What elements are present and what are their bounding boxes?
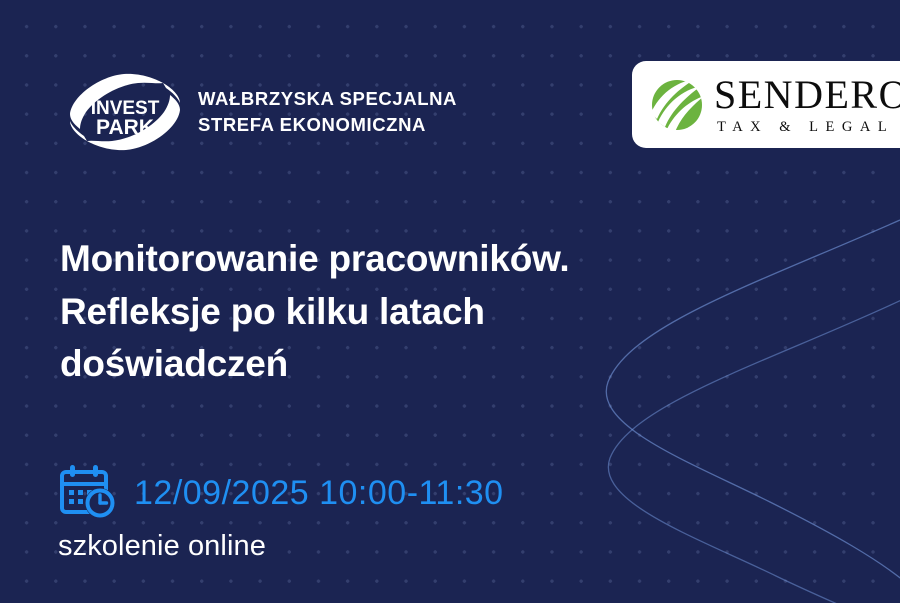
event-info: 12/09/2025 10:00-11:30 szkolenie online (58, 462, 678, 563)
banner-title-line-2: Refleksje po kilku latach (60, 286, 680, 339)
wsse-wordmark-line1: WAŁBRZYSKA SPECJALNA (198, 86, 457, 112)
sendero-logo-card: SENDERO TAX & LEGAL (632, 61, 900, 148)
invest-park-diamond-logo-icon: INVEST PARK (62, 70, 188, 154)
banner-header: INVEST PARK WAŁBRZYSKA SPECJALNA STREFA … (0, 0, 900, 160)
banner-title-line-3: doświadczeń (60, 338, 680, 391)
invest-park-mark-line2: PARK (96, 116, 154, 139)
sendero-text-block: SENDERO TAX & LEGAL (714, 75, 900, 135)
sendero-subtitle: TAX & LEGAL (714, 120, 900, 135)
event-datetime-row: 12/09/2025 10:00-11:30 (58, 462, 678, 524)
sendero-leaf-logo-icon (649, 77, 705, 133)
calendar-clock-icon (58, 462, 120, 524)
event-format: szkolenie online (58, 530, 678, 563)
wsse-wordmark-line2: STREFA EKONOMICZNA (198, 112, 457, 138)
event-datetime: 12/09/2025 10:00-11:30 (134, 474, 504, 513)
banner-title-line-1: Monitorowanie pracowników. (60, 233, 680, 286)
invest-park-logo-block: INVEST PARK WAŁBRZYSKA SPECJALNA STREFA … (62, 70, 457, 154)
wsse-wordmark: WAŁBRZYSKA SPECJALNA STREFA EKONOMICZNA (198, 86, 457, 139)
sendero-name: SENDERO (714, 75, 900, 115)
banner-title: Monitorowanie pracowników. Refleksje po … (60, 233, 680, 391)
webinar-banner: INVEST PARK WAŁBRZYSKA SPECJALNA STREFA … (0, 0, 900, 603)
